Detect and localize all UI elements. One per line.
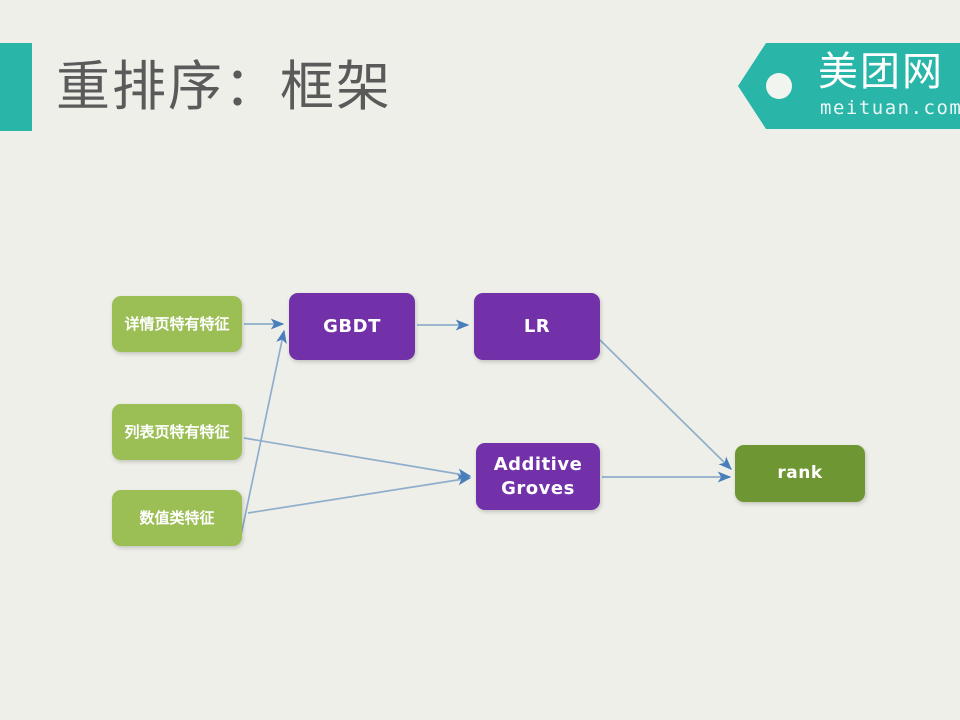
node-label: GBDT (323, 315, 381, 339)
node-label: Additive Groves (476, 453, 600, 501)
node-numeric-features[interactable]: 数值类特征 (112, 490, 242, 546)
node-label: LR (524, 315, 550, 339)
node-list-features[interactable]: 列表页特有特征 (112, 404, 242, 460)
node-detail-features[interactable]: 详情页特有特征 (112, 296, 242, 352)
node-label: 详情页特有特征 (124, 314, 229, 335)
framework-flowchart: 详情页特有特征 列表页特有特征 数值类特征 GBDT LR Additive G… (0, 0, 960, 720)
node-lr[interactable]: LR (474, 293, 600, 360)
edge-lr-to-rank (600, 340, 731, 469)
node-label: 数值类特征 (139, 508, 214, 529)
node-gbdt[interactable]: GBDT (289, 293, 415, 360)
edge-numeric-to-groves (248, 478, 470, 513)
edge-list-to-groves (244, 438, 470, 476)
slide-canvas: 重排序：框架 美团网 meituan.com (0, 0, 960, 720)
node-label: 列表页特有特征 (124, 422, 229, 443)
node-rank[interactable]: rank (735, 445, 865, 502)
flowchart-edges (0, 0, 960, 720)
node-label: rank (777, 462, 822, 485)
node-additive-groves[interactable]: Additive Groves (476, 443, 600, 510)
